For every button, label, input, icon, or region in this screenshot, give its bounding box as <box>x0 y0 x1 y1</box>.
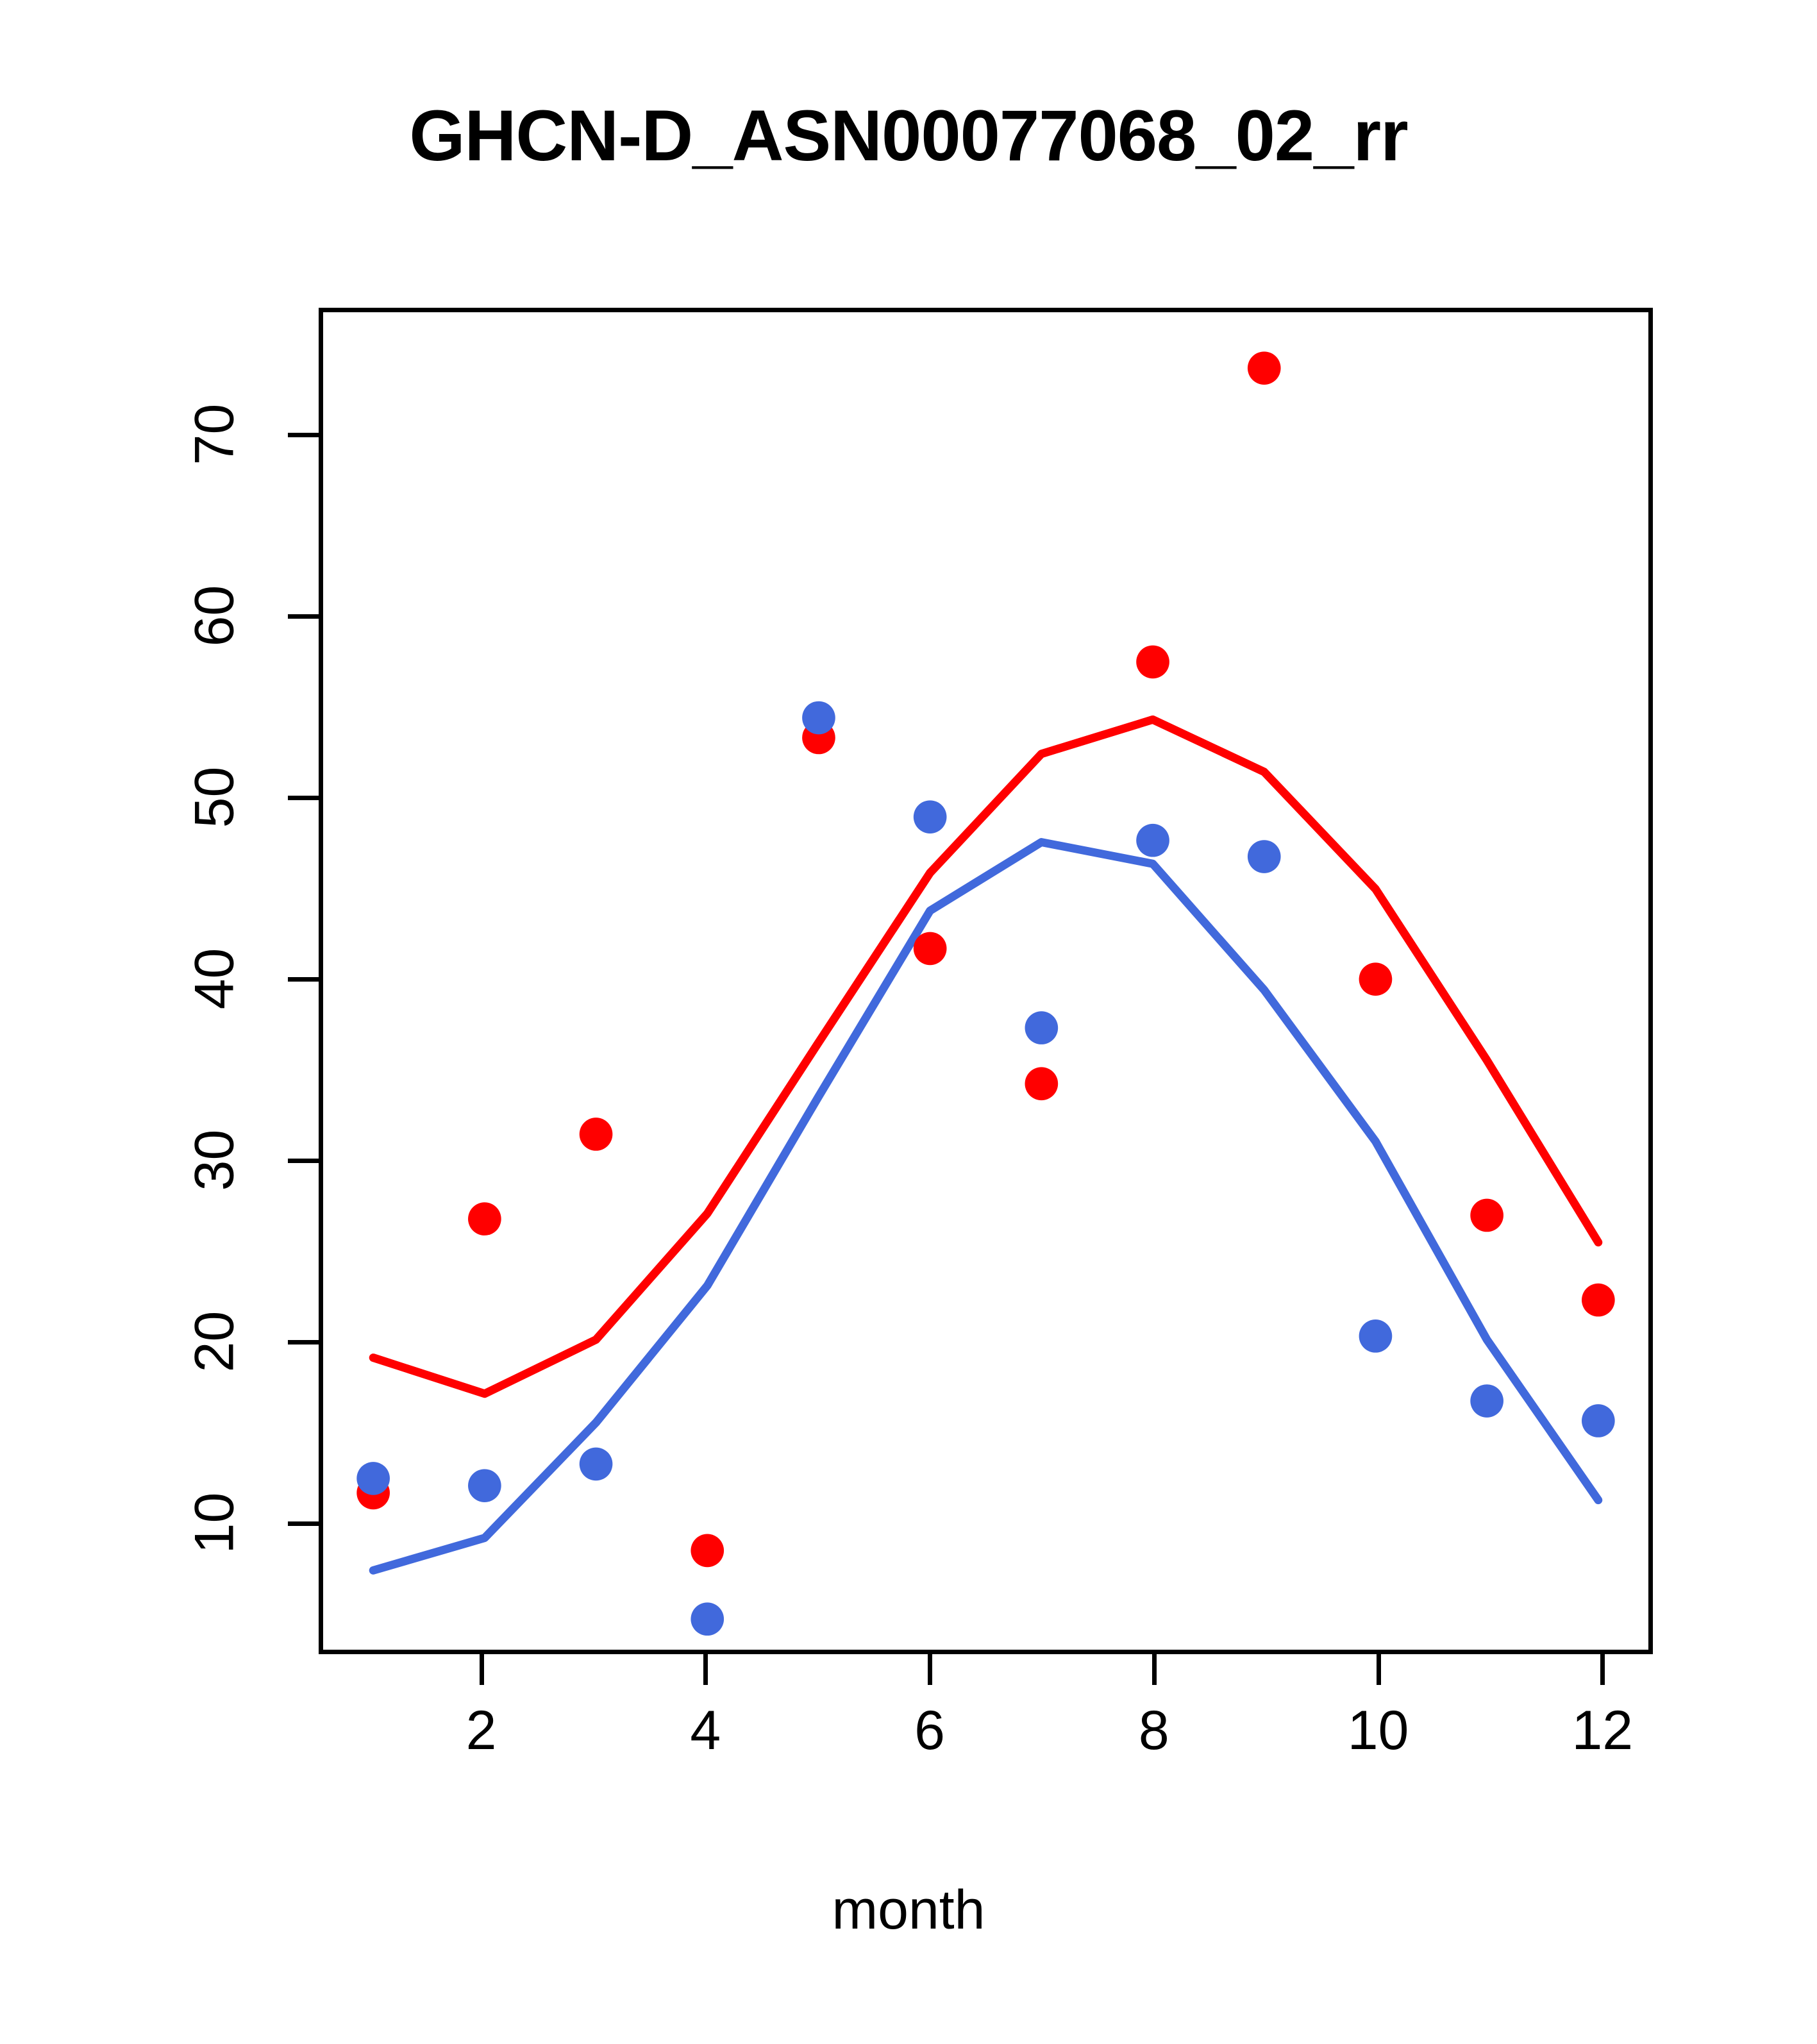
data-point-blue-points <box>1582 1404 1615 1437</box>
y-tick-label-20: 20 <box>183 1278 247 1406</box>
data-point-red-points <box>1136 646 1169 679</box>
data-point-red-points <box>1025 1067 1059 1100</box>
y-tick-40 <box>288 977 319 982</box>
x-axis-title: month <box>0 1879 1817 1942</box>
data-point-blue-points <box>1470 1384 1503 1418</box>
series-line-red-line <box>373 719 1598 1393</box>
x-tick-10 <box>1377 1654 1381 1685</box>
plot-area <box>319 308 1653 1654</box>
y-tick-label-60: 60 <box>183 552 247 680</box>
x-tick-label-10: 10 <box>1302 1699 1455 1763</box>
x-tick-label-2: 2 <box>405 1699 558 1763</box>
data-point-blue-points <box>1248 840 1281 873</box>
y-tick-60 <box>288 614 319 619</box>
data-point-red-points <box>580 1118 613 1151</box>
y-tick-20 <box>288 1340 319 1345</box>
x-tick-8 <box>1152 1654 1157 1685</box>
page-title: GHCN-D_ASN00077068_02_rr <box>0 96 1817 175</box>
data-point-blue-points <box>691 1602 724 1636</box>
y-tick-70 <box>288 433 319 437</box>
x-tick-label-4: 4 <box>628 1699 782 1763</box>
data-point-blue-points <box>356 1462 390 1495</box>
data-point-red-points <box>1582 1284 1615 1317</box>
x-tick-4 <box>703 1654 708 1685</box>
data-point-red-points <box>468 1202 501 1236</box>
data-point-red-points <box>1359 962 1393 996</box>
chart-canvas: GHCN-D_ASN00077068_02_rr 10203040506070 … <box>0 0 1817 2044</box>
data-point-red-points <box>1248 351 1281 385</box>
plot-svg <box>323 312 1648 1650</box>
data-point-blue-points <box>1025 1011 1059 1044</box>
x-tick-2 <box>480 1654 484 1685</box>
y-tick-10 <box>288 1521 319 1526</box>
data-point-red-points <box>914 932 947 966</box>
y-tick-label-10: 10 <box>183 1459 247 1587</box>
y-tick-50 <box>288 796 319 800</box>
data-point-blue-points <box>1359 1319 1393 1353</box>
x-tick-label-12: 12 <box>1525 1699 1679 1763</box>
y-tick-label-40: 40 <box>183 915 247 1043</box>
data-point-blue-points <box>1136 824 1169 857</box>
x-tick-label-8: 8 <box>1077 1699 1231 1763</box>
data-point-blue-points <box>802 701 835 735</box>
x-tick-12 <box>1600 1654 1605 1685</box>
x-tick-label-6: 6 <box>853 1699 1007 1763</box>
x-tick-6 <box>928 1654 932 1685</box>
y-tick-label-50: 50 <box>183 733 247 862</box>
data-point-blue-points <box>914 800 947 834</box>
y-tick-label-70: 70 <box>183 371 247 499</box>
y-tick-label-30: 30 <box>183 1096 247 1225</box>
data-point-red-points <box>1470 1199 1503 1232</box>
data-point-blue-points <box>580 1448 613 1481</box>
y-tick-30 <box>288 1159 319 1163</box>
data-point-red-points <box>691 1534 724 1568</box>
data-point-blue-points <box>468 1469 501 1502</box>
